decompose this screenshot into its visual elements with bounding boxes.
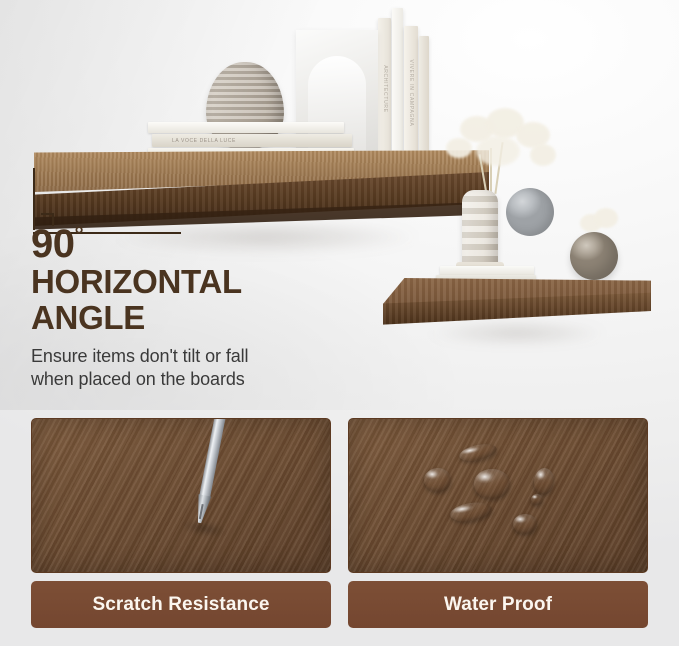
angle-value: 90° [31, 224, 391, 264]
gray-wall-disc [506, 188, 554, 236]
list-item [148, 122, 344, 133]
page-title-line2: ANGLE [31, 300, 391, 336]
degree-symbol: ° [75, 222, 84, 248]
feature-panel-water-proof: Water Proof [348, 418, 648, 628]
floating-shelf-lower [383, 278, 653, 340]
water-droplet-icon [474, 469, 510, 499]
feature-panel-scratch-resistance: Scratch Resistance [31, 418, 331, 628]
flower-cluster [530, 144, 556, 166]
page-title-line1: HORIZONTAL [31, 264, 391, 300]
water-droplet-icon [531, 494, 543, 505]
flower-cluster [476, 136, 520, 166]
water-droplet-icon [449, 500, 493, 524]
status-badge: Water Proof [348, 581, 648, 628]
feature-panels: Scratch Resistance Water Proof [31, 418, 648, 628]
product-feature-poster: ARCHITECTURE VIVERE IN CAMPAGNA LA VOCE … [0, 0, 679, 646]
flower-cluster [594, 208, 618, 228]
flower-cluster [446, 138, 472, 158]
status-badge: Scratch Resistance [31, 581, 331, 628]
screwdriver-on-wood-photo [31, 418, 331, 573]
spherical-concrete-vase [570, 232, 618, 280]
book-spine-title: ARCHITECTURE [382, 65, 388, 113]
angle-number: 90 [31, 222, 75, 266]
list-item [419, 36, 429, 160]
water-droplet-icon [424, 468, 451, 492]
subtitle-line2: when placed on the boards [31, 368, 391, 391]
water-droplet-icon [513, 514, 537, 534]
water-droplets-on-wood-photo [348, 418, 648, 573]
subtitle-line1: Ensure items don't tilt or fall [31, 345, 391, 368]
subtitle: Ensure items don't tilt or fall when pla… [31, 345, 391, 391]
bracket-vertical-line [33, 168, 35, 230]
list-item: ARCHITECTURE [378, 18, 391, 160]
dried-babys-breath [442, 108, 560, 194]
book-spine-title: LA VOCE DELLA LUCE [172, 138, 236, 144]
list-item [392, 8, 403, 160]
headline-block: 90° HORIZONTAL ANGLE Ensure items don't … [31, 224, 391, 391]
water-droplet-icon [532, 467, 555, 496]
book-spine-title: VIVERE IN CAMPAGNA [408, 60, 414, 127]
water-droplet-icon [458, 441, 498, 464]
list-item: VIVERE IN CAMPAGNA [404, 26, 418, 160]
list-item: LA VOCE DELLA LUCE [152, 134, 352, 147]
screwdriver-icon [187, 418, 234, 526]
screwdriver-shaft [198, 418, 226, 502]
